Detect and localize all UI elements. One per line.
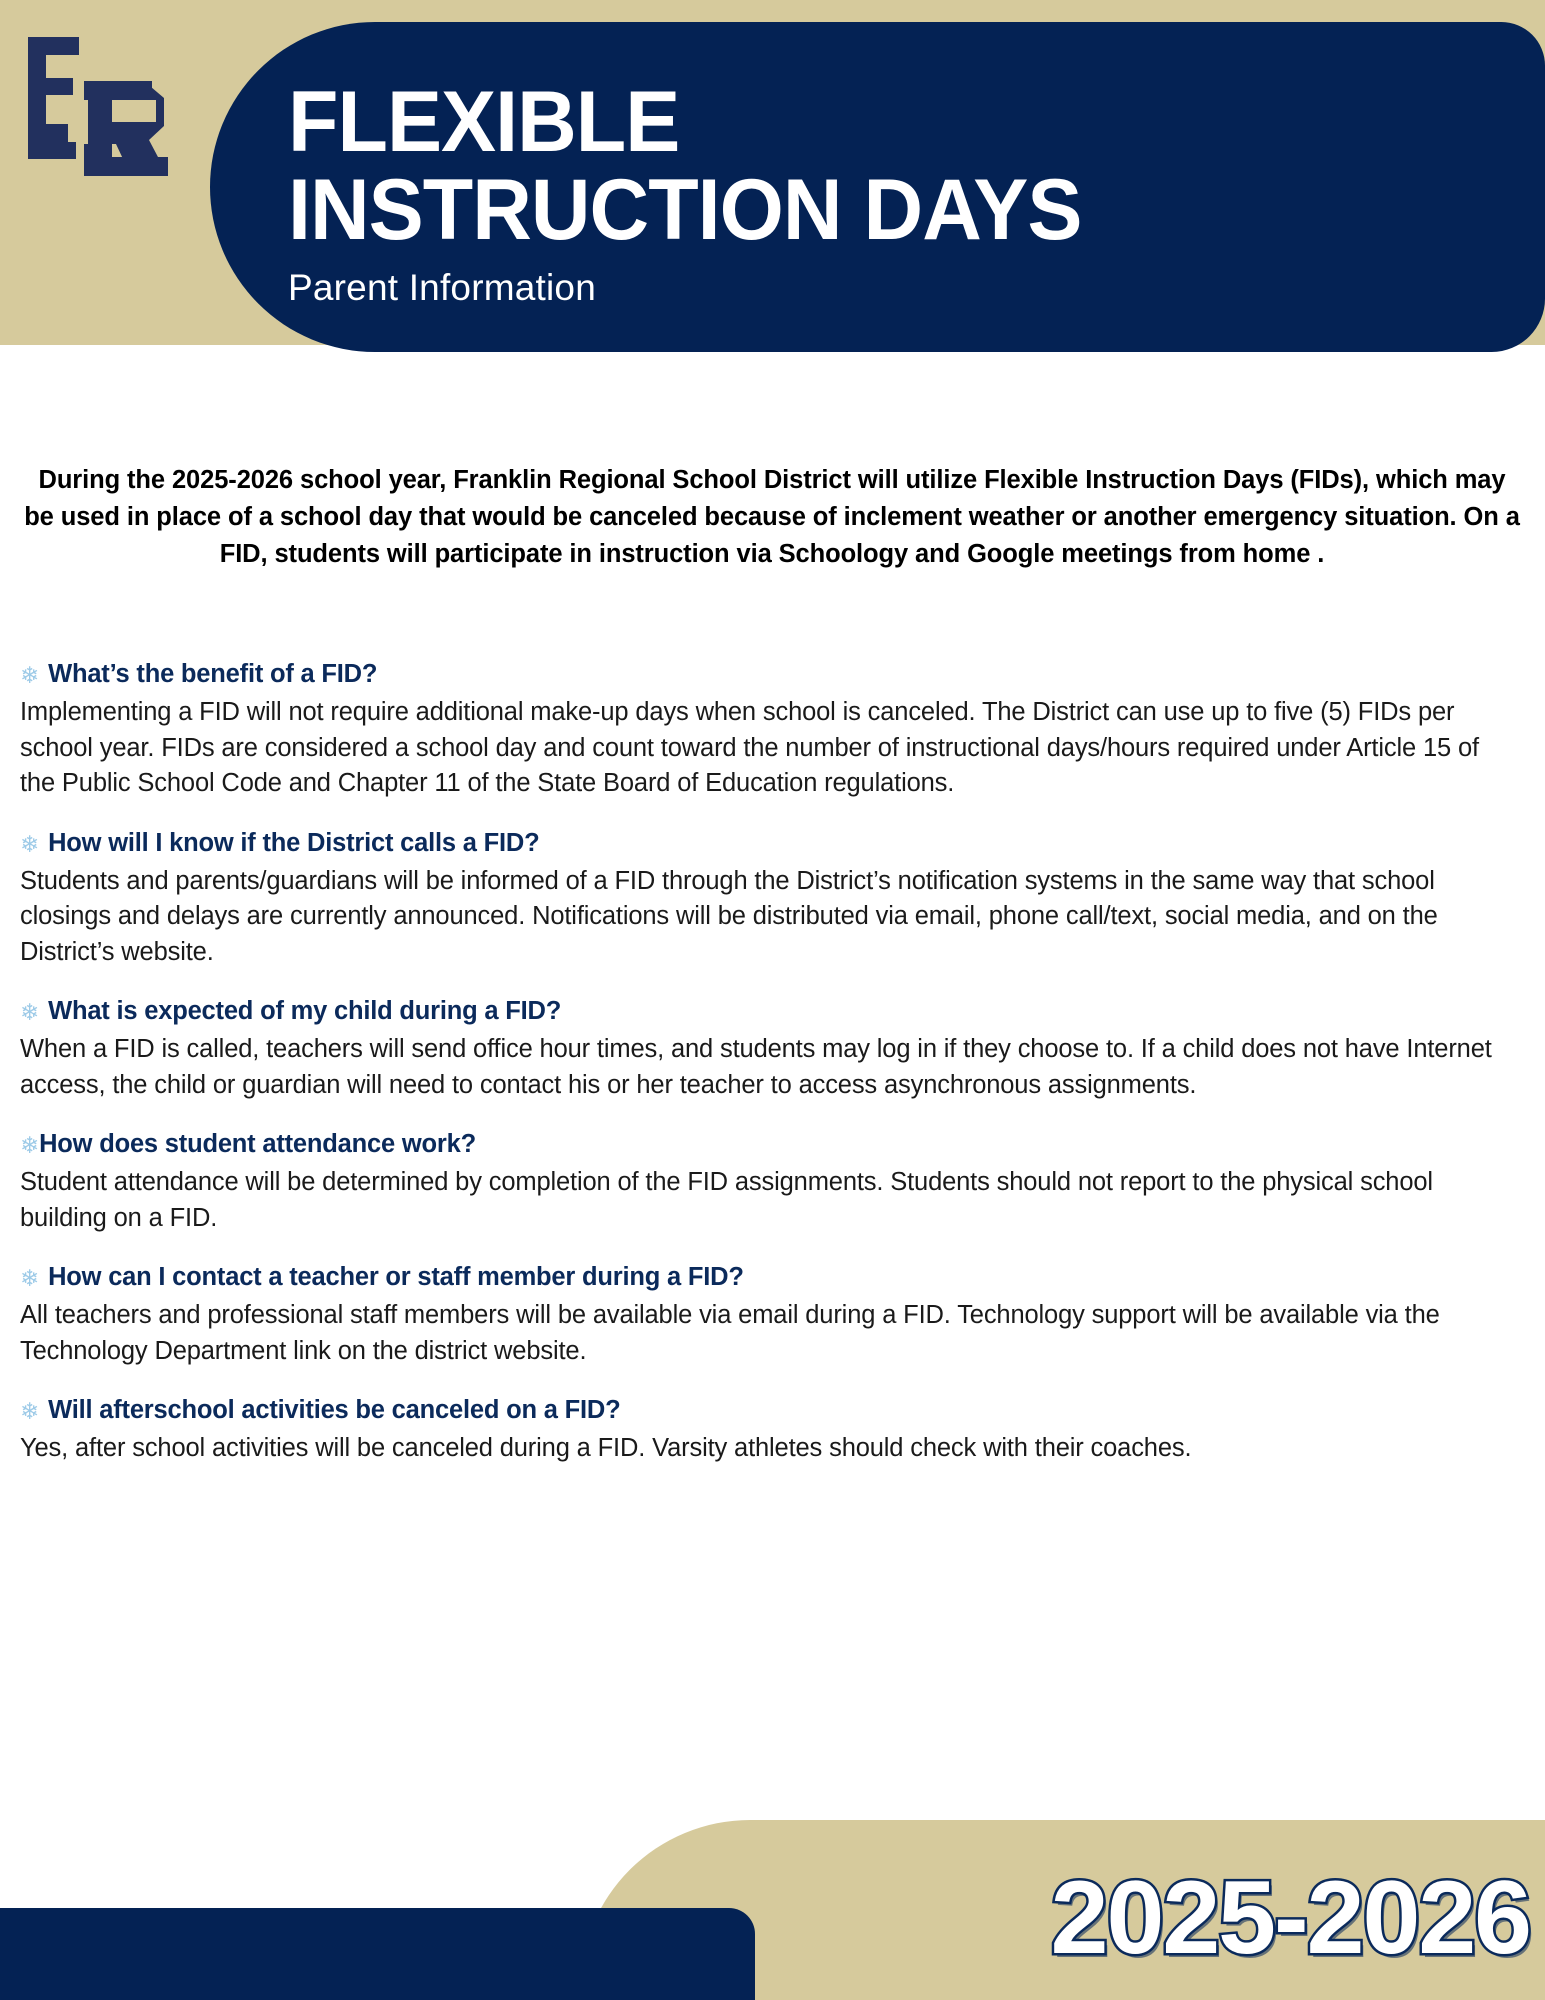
faq-section: ❄Will afterschool activities be canceled…: [20, 1391, 1525, 1467]
faq-body-afterschool: Yes, after school activities will be can…: [20, 1431, 1510, 1467]
page-title-line-2: INSTRUCTION DAYS: [288, 166, 1469, 254]
faq-heading-attendance: ❄How does student attendance work?: [20, 1125, 1525, 1165]
faq-heading-afterschool: ❄Will afterschool activities be canceled…: [20, 1391, 1525, 1431]
faq-heading-text: Will afterschool activities be canceled …: [48, 1396, 620, 1424]
faq-heading-text: What is expected of my child during a FI…: [48, 997, 561, 1025]
faq-body-contact: All teachers and professional staff memb…: [20, 1298, 1510, 1369]
faq-heading-text: What’s the benefit of a FID?: [48, 660, 377, 688]
faq-body-expectations: When a FID is called, teachers will send…: [20, 1032, 1510, 1103]
faq-section: ❄How will I know if the District calls a…: [20, 824, 1525, 971]
faq-heading-text: How does student attendance work?: [39, 1130, 476, 1158]
faq-heading-text: How will I know if the District calls a …: [48, 829, 539, 857]
snowflake-icon: ❄: [20, 826, 39, 864]
faq-heading-benefit: ❄What’s the benefit of a FID?: [20, 655, 1525, 695]
snowflake-icon: ❄: [20, 1393, 39, 1431]
faq-body-benefit: Implementing a FID will not require addi…: [20, 695, 1510, 802]
page-title-line-1: FLEXIBLE: [288, 78, 1469, 166]
page-subtitle: Parent Information: [288, 266, 1518, 310]
snowflake-icon: ❄: [20, 1127, 39, 1165]
snowflake-icon: ❄: [20, 994, 39, 1032]
footer-navy-bar: [0, 1908, 755, 2000]
intro-paragraph: During the 2025-2026 school year, Frankl…: [22, 462, 1522, 573]
faq-section: ❄How does student attendance work? Stude…: [20, 1125, 1525, 1236]
page-header: FLEXIBLE INSTRUCTION DAYS Parent Informa…: [0, 0, 1545, 345]
faq-section: ❄How can I contact a teacher or staff me…: [20, 1258, 1525, 1369]
faq-heading-contact: ❄How can I contact a teacher or staff me…: [20, 1258, 1525, 1298]
faq-section: ❄What’s the benefit of a FID? Implementi…: [20, 655, 1525, 802]
faq-body-notification: Students and parents/guardians will be i…: [20, 864, 1510, 971]
faq-heading-expectations: ❄What is expected of my child during a F…: [20, 992, 1525, 1032]
faq-content: ❄What’s the benefit of a FID? Implementi…: [20, 655, 1525, 1489]
faq-section: ❄What is expected of my child during a F…: [20, 992, 1525, 1103]
faq-body-attendance: Student attendance will be determined by…: [20, 1165, 1510, 1236]
franklin-regional-fr-logo-icon: [18, 26, 193, 186]
snowflake-icon: ❄: [20, 1260, 39, 1298]
snowflake-icon: ❄: [20, 657, 39, 695]
school-year-label: 2025-2026: [700, 1862, 1530, 1974]
faq-heading-notification: ❄How will I know if the District calls a…: [20, 824, 1525, 864]
faq-heading-text: How can I contact a teacher or staff mem…: [48, 1263, 744, 1291]
header-title-block: FLEXIBLE INSTRUCTION DAYS Parent Informa…: [288, 78, 1518, 310]
